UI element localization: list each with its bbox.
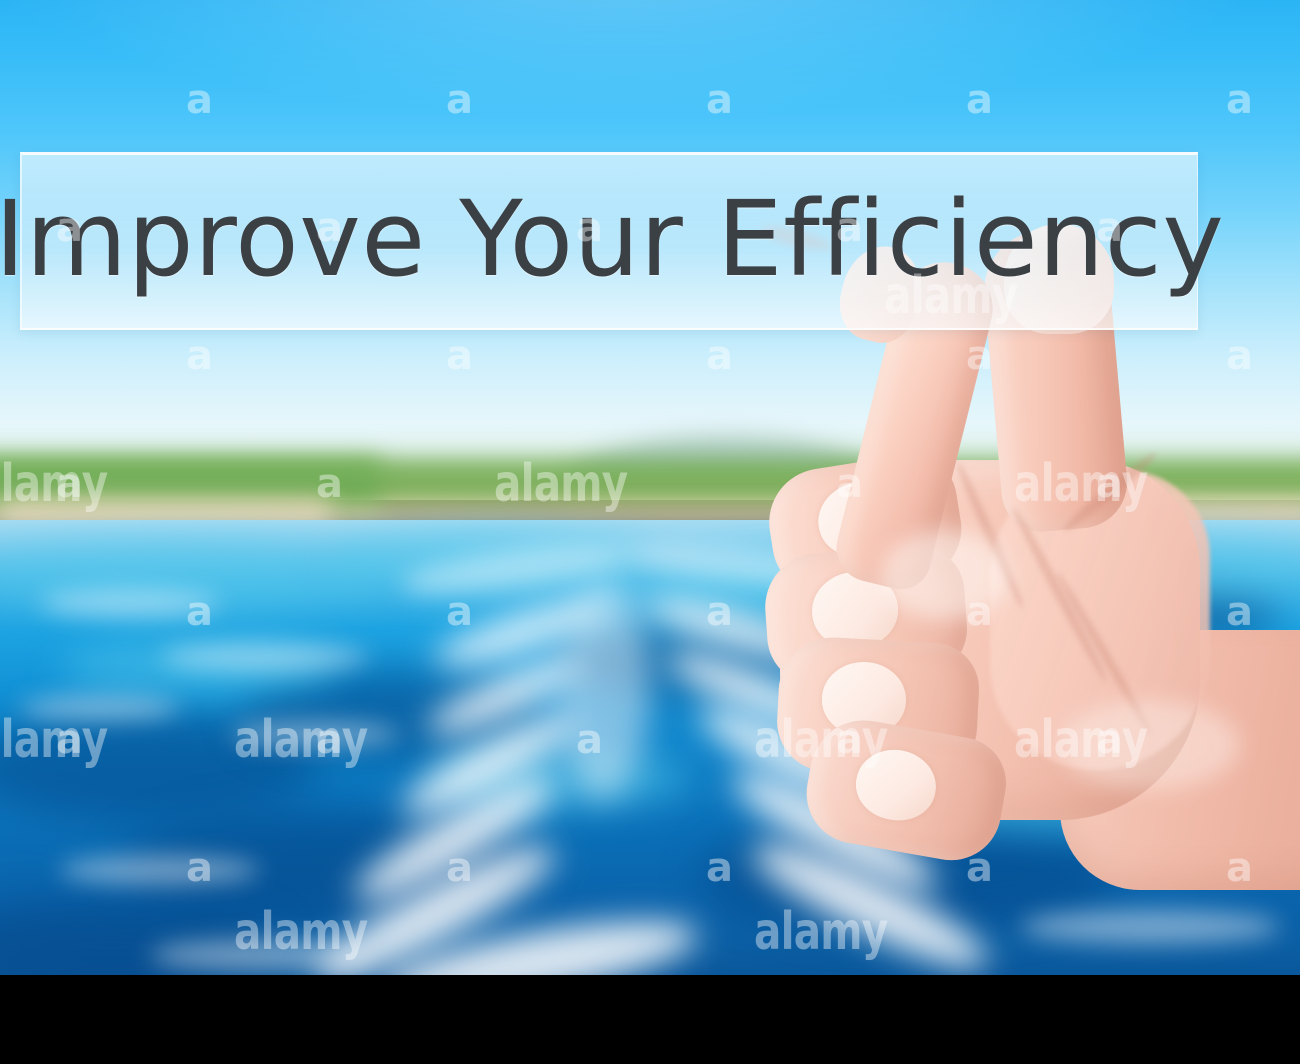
screenshot-root: Improve Your Efficiency aaaaaaaaaaaaaaaa… xyxy=(0,0,1300,1064)
stock-photo: Improve Your Efficiency aaaaaaaaaaaaaaaa… xyxy=(0,0,1300,975)
alamy-footer-bar: alamy Image ID: J78J0F www.alamy.com xyxy=(0,975,1300,1064)
glass-button[interactable]: Improve Your Efficiency xyxy=(20,152,1198,330)
button-label: Improve Your Efficiency xyxy=(0,187,1224,291)
